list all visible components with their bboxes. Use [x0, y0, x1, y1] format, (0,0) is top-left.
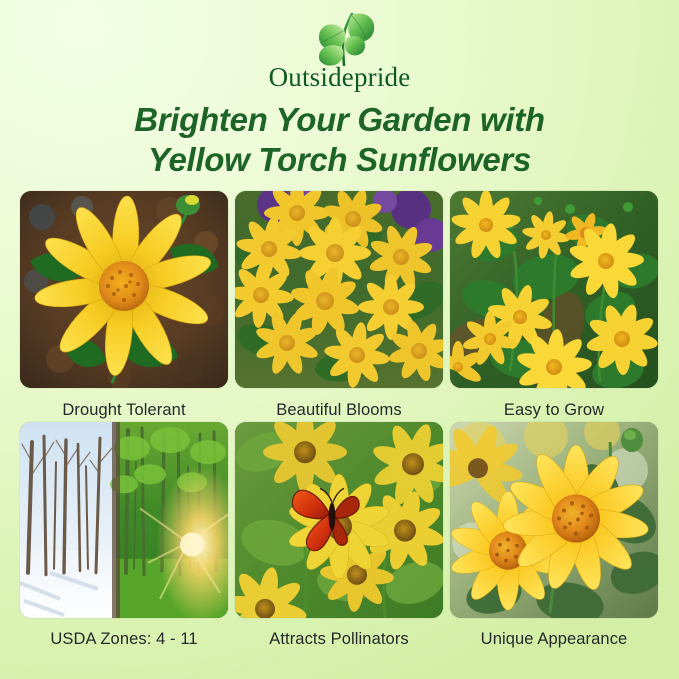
feature-card-drought-tolerant: Drought Tolerant [20, 191, 228, 419]
feature-card-usda-zones: USDA Zones: 4 - 11 [20, 422, 228, 648]
headline-line-1: Brighten Your Garden with [134, 101, 545, 138]
feature-caption: Drought Tolerant [20, 388, 228, 419]
feature-caption: Easy to Grow [450, 388, 658, 419]
feature-image-single-yellow-sunflower-on-soil [20, 191, 228, 388]
page-title: Brighten Your Garden with Yellow Torch S… [0, 100, 679, 181]
headline-line-2: Yellow Torch Sunflowers [0, 140, 679, 180]
feature-card-easy-to-grow: Easy to Grow [450, 191, 658, 419]
feature-card-unique-appearance: Unique Appearance [450, 422, 658, 648]
feature-image-butterfly-on-sunflowers [235, 422, 443, 618]
brand-logo: Outsidepride [0, 8, 679, 91]
feature-card-beautiful-blooms: Beautiful Blooms [235, 191, 443, 419]
feature-grid: Drought Tolerant [20, 191, 659, 647]
feature-caption: USDA Zones: 4 - 11 [20, 618, 228, 648]
promo-infographic: Outsidepride Brighten Your Garden with Y… [0, 0, 679, 679]
feature-card-attracts-pollinators: Attracts Pollinators [235, 422, 443, 648]
feature-caption: Beautiful Blooms [235, 388, 443, 419]
brand-name: Outsidepride [269, 64, 411, 91]
feature-caption: Attracts Pollinators [235, 618, 443, 648]
feature-image-yellow-flowers-with-green-foliage [450, 191, 658, 388]
feature-image-winter-summer-forest-split [20, 422, 228, 618]
feature-image-mass-of-yellow-blooms [235, 191, 443, 388]
sprout-leaves-icon [294, 8, 386, 66]
feature-image-sunflower-closeup-pair [450, 422, 658, 618]
feature-caption: Unique Appearance [450, 618, 658, 648]
